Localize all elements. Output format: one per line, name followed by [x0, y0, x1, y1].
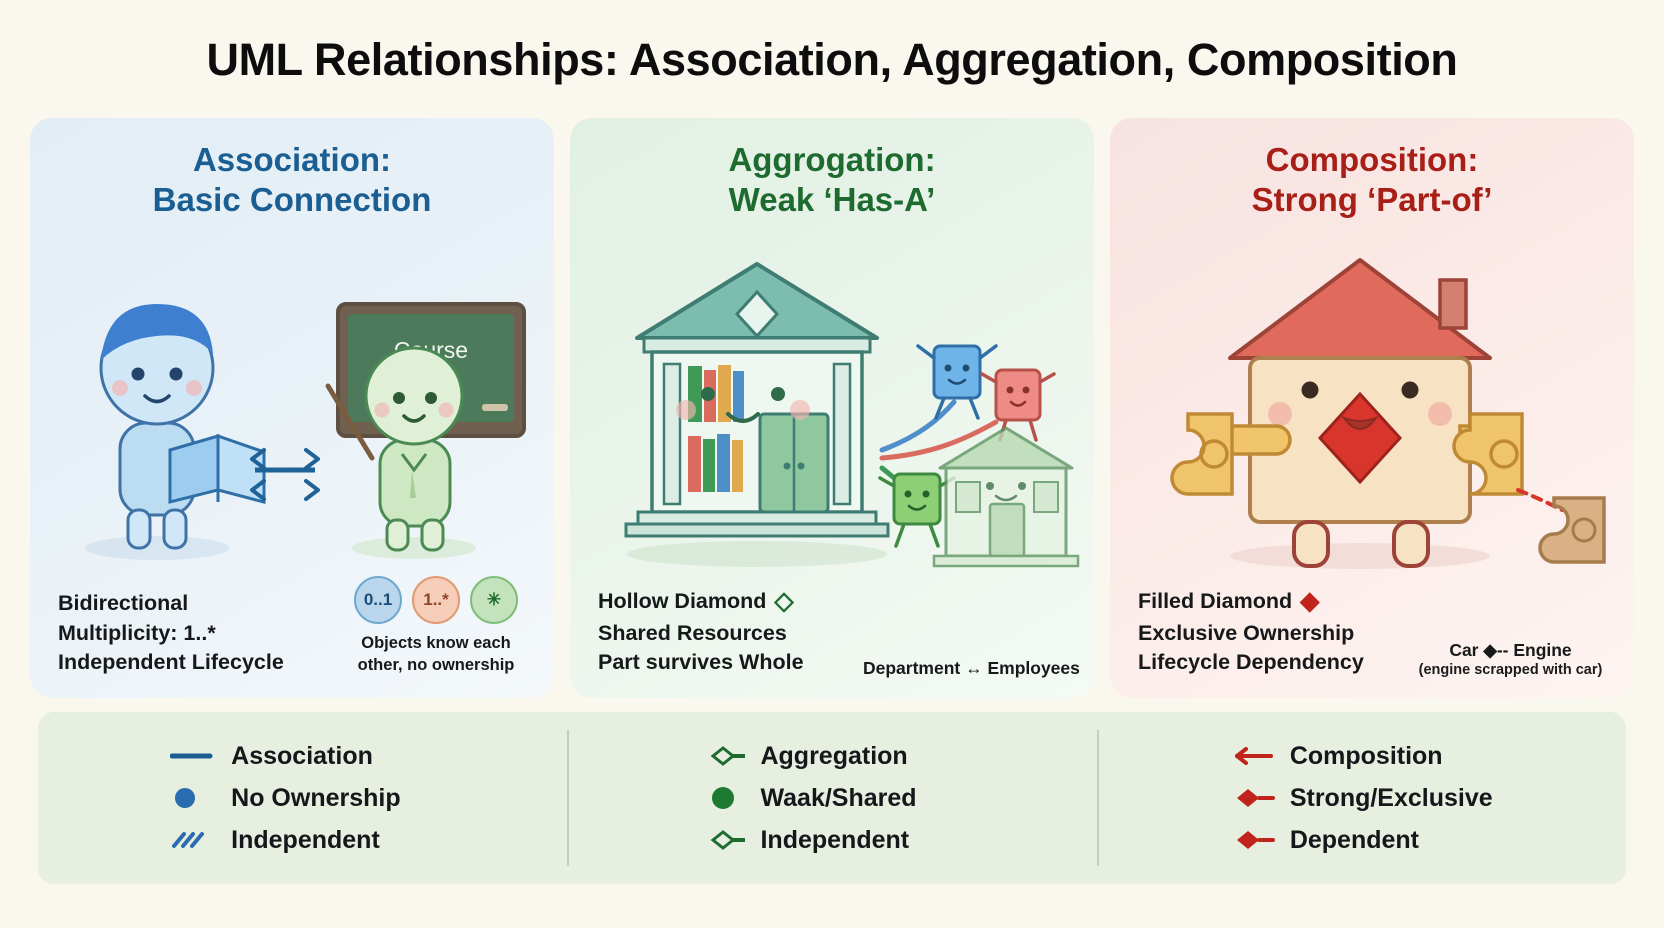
fact-row: Hollow Diamond ◇ [598, 584, 804, 619]
student-character [85, 304, 264, 560]
hollow-diamond-icon: ◇ [774, 584, 793, 619]
multiplicity-caption-block: 0..1 1..* ✳ Objects know each other, no … [336, 576, 536, 676]
panel-association-title: Association: Basic Connection [30, 140, 554, 221]
infographic-poster: UML Relationships: Association, Aggregat… [0, 0, 1664, 928]
red-book-part [982, 370, 1054, 440]
legend-item: Strong/Exclusive [1229, 784, 1494, 813]
fact-row: Shared Resources [598, 619, 804, 649]
legend-item: Composition [1229, 742, 1494, 771]
secondary-building [934, 428, 1078, 566]
panel-aggregation-title-line2: Weak ‘Has-A’ [570, 180, 1094, 220]
legend-item: Association [170, 742, 435, 771]
hatch-lines-icon [170, 827, 216, 853]
fact-text: Exclusive Ownership [1138, 619, 1354, 649]
fact-row: Part survives Whole [598, 648, 804, 678]
fact-row: Lifecycle Dependency [1138, 648, 1364, 678]
fact-row: Exclusive Ownership [1138, 619, 1364, 649]
legend-label: Dependent [1290, 826, 1419, 855]
fact-row: Bidirectional [58, 589, 284, 619]
fact-text: Part survives Whole [598, 648, 804, 678]
caption-line-1: Objects know each [336, 633, 536, 654]
panel-aggregation: Aggrogation: Weak ‘Has-A’ [570, 118, 1094, 698]
caption-line-2: other, no ownership [336, 655, 536, 676]
legend-label: Association [231, 742, 373, 771]
panel-aggregation-title: Aggrogation: Weak ‘Has-A’ [570, 140, 1094, 221]
fact-text: Bidirectional [58, 589, 188, 619]
panel-composition-title-line2: Strong ‘Part-of’ [1110, 180, 1634, 220]
composition-facts: Filled Diamond ◆ Exclusive Ownership Lif… [1138, 584, 1364, 678]
hollow-diamond-line-icon [699, 743, 745, 769]
association-illustration: Course [30, 218, 554, 588]
legend-item: Dependent [1229, 826, 1494, 855]
panel-aggregation-title-line1: Aggrogation: [728, 141, 935, 178]
association-facts: Bidirectional Multiplicity: 1..* Indepen… [58, 589, 284, 678]
fact-text: Filled Diamond [1138, 587, 1292, 617]
page-title: UML Relationships: Association, Aggregat… [0, 34, 1664, 86]
legend-column-association: Association No Ownership Indepe [38, 712, 567, 884]
multiplicity-badges: 0..1 1..* ✳ [336, 576, 536, 624]
legend-label: Composition [1290, 742, 1443, 771]
relation-text: Car ◆-- Engine [1403, 639, 1618, 661]
panel-association-title-line1: Association: [193, 141, 391, 178]
legend-label: Waak/Shared [760, 784, 916, 813]
filled-circle-icon [699, 785, 745, 811]
legend: Association No Ownership Indepe [38, 712, 1626, 884]
composition-relation-block: Car ◆-- Engine (engine scrapped with car… [1403, 639, 1618, 680]
fact-row: Filled Diamond ◆ [1138, 584, 1364, 619]
left-arrow-icon [1229, 743, 1275, 769]
relation-text: Department ↔ Employees [863, 658, 1080, 678]
panel-composition-title-line1: Composition: [1266, 141, 1479, 178]
legend-label: Aggregation [760, 742, 907, 771]
badge-star: ✳ [470, 576, 518, 624]
library-building [626, 264, 888, 567]
aggregation-illustration [570, 218, 1094, 588]
fact-text: Hollow Diamond [598, 587, 766, 617]
legend-column-aggregation: Aggregation Waak/Shared Independent [567, 712, 1096, 884]
badge-1-star: 1..* [412, 576, 460, 624]
detached-puzzle-piece [1540, 498, 1604, 562]
panel-composition-title: Composition: Strong ‘Part-of’ [1110, 140, 1634, 221]
fact-row: Multiplicity: 1..* [58, 619, 284, 649]
composition-illustration [1110, 218, 1634, 588]
legend-label: No Ownership [231, 784, 400, 813]
fact-text: Multiplicity: 1..* [58, 619, 216, 649]
house-character [1230, 260, 1490, 566]
badge-0-1: 0..1 [354, 576, 402, 624]
filled-diamond-line-icon [1229, 827, 1275, 853]
aggregation-relation-label: Department ↔ Employees [863, 657, 1078, 680]
green-book-part [880, 474, 954, 546]
legend-column-composition: Composition Strong/Exclusive [1097, 712, 1626, 884]
filled-diamond-icon: ◆ [1300, 584, 1319, 619]
blue-book-part [918, 346, 996, 418]
fact-text: Independent Lifecycle [58, 648, 284, 678]
panel-association-title-line2: Basic Connection [30, 180, 554, 220]
legend-item: Independent [699, 826, 964, 855]
panel-row: Association: Basic Connection [30, 118, 1634, 698]
legend-item: Aggregation [699, 742, 964, 771]
open-book [170, 436, 264, 502]
fact-text: Lifecycle Dependency [1138, 648, 1364, 678]
filled-circle-icon [170, 785, 216, 811]
solid-line-icon [170, 743, 216, 769]
aggregation-facts: Hollow Diamond ◇ Shared Resources Part s… [598, 584, 804, 678]
hollow-diamond-line-icon [699, 827, 745, 853]
legend-label: Independent [760, 826, 909, 855]
fact-text: Shared Resources [598, 619, 787, 649]
fact-row: Independent Lifecycle [58, 648, 284, 678]
filled-diamond-line-icon [1229, 785, 1275, 811]
legend-item: Independent [170, 826, 435, 855]
panel-composition: Composition: Strong ‘Part-of’ [1110, 118, 1634, 698]
legend-item: No Ownership [170, 784, 435, 813]
panel-association: Association: Basic Connection [30, 118, 554, 698]
legend-label: Strong/Exclusive [1290, 784, 1493, 813]
legend-item: Waak/Shared [699, 784, 964, 813]
relation-caption: (engine scrapped with car) [1403, 661, 1618, 680]
legend-label: Independent [231, 826, 380, 855]
